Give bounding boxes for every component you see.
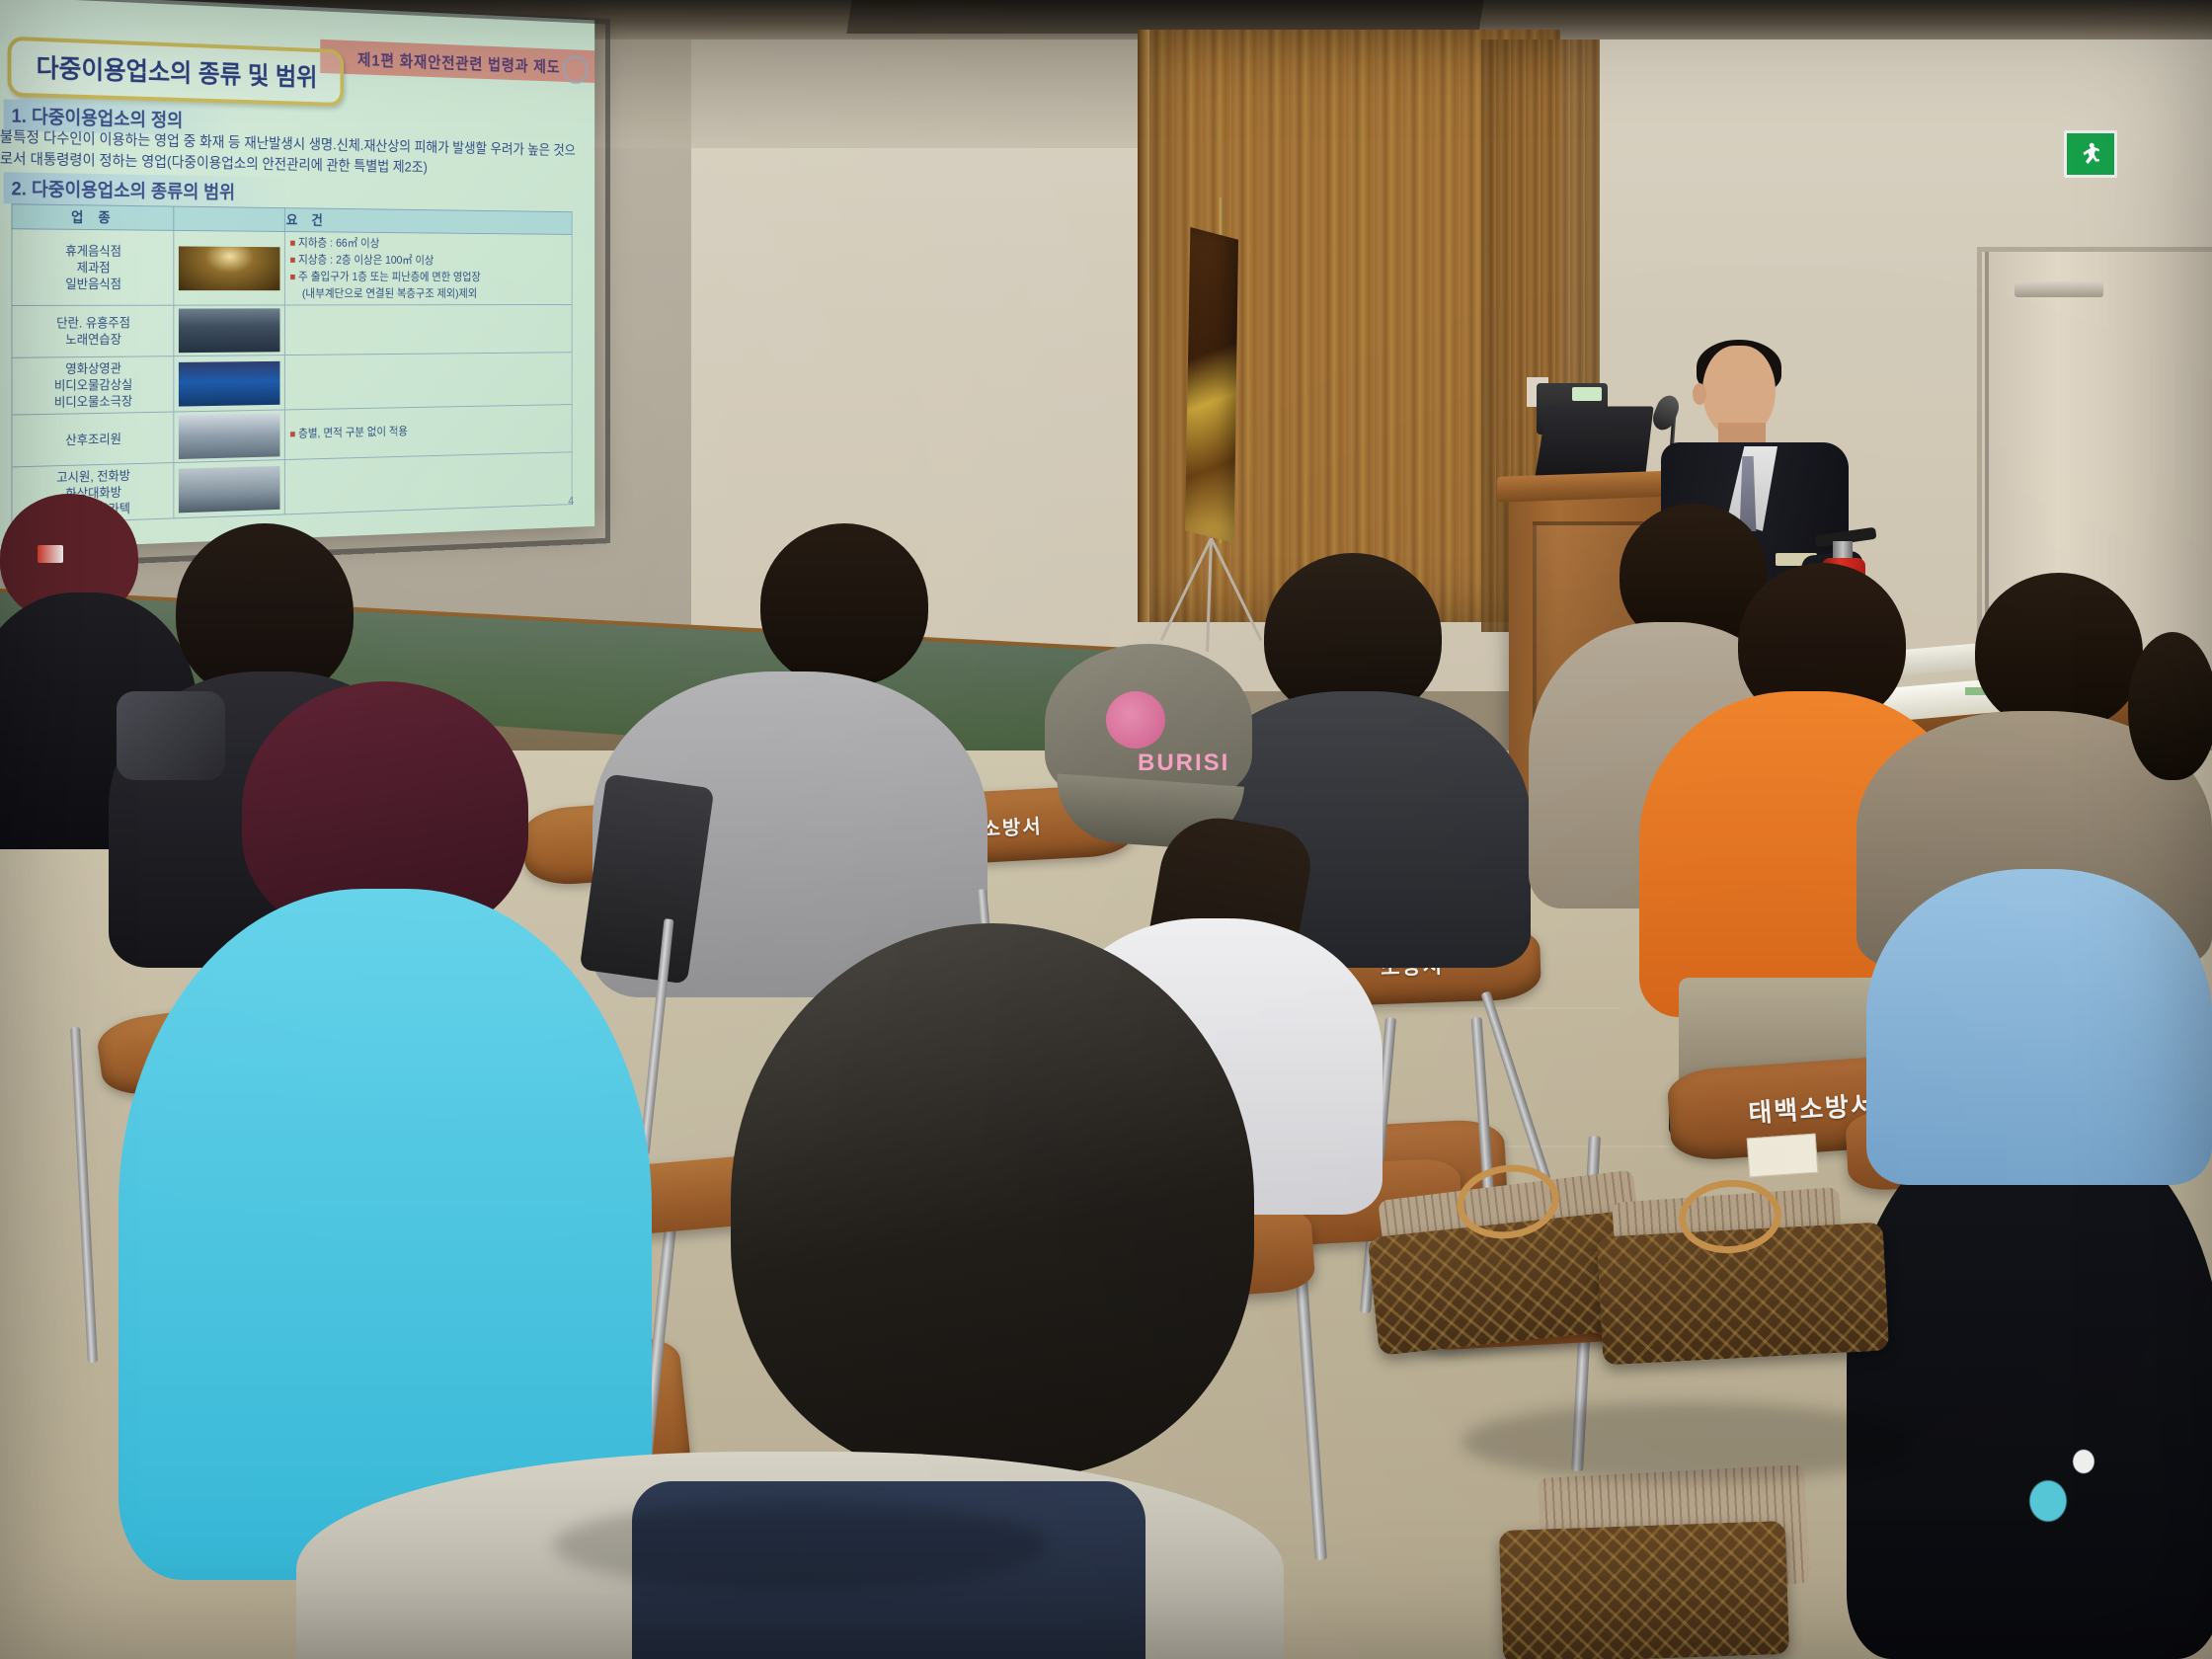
slide-table-header-image [174, 206, 285, 231]
slide-row-conditions-4: ■층별, 면적 구분 없이 적용 [285, 405, 573, 460]
slide-row-type-4: 산후조리원 [12, 412, 174, 467]
slide-row-type-1: 휴게음식점 제과점 일반음식점 [12, 229, 174, 306]
slide-banner-decor-icon [563, 54, 589, 84]
square-bullet-icon: ■ [289, 238, 295, 249]
slide-heading-2: 2. 다중이용업소의 종류의 범위 [4, 172, 288, 207]
slide-table-row: 휴게음식점 제과점 일반음식점 ■지하층 : 66㎡ 이상 ■지상층 : 2층 … [12, 229, 572, 306]
slide-row-type-2: 단란. 유흥주점 노래연습장 [12, 305, 174, 357]
audience-head [760, 523, 928, 686]
emergency-exit-sign [2064, 130, 2117, 178]
slide-row-type-3-text: 영화상영관 비디오물감상실 비디오물소극장 [17, 359, 168, 411]
cap-patch-icon [1106, 691, 1165, 749]
condition-line: ■지상층 : 2층 이상은 100㎡ 이상 [289, 252, 567, 270]
condition-line: (내부계단으로 연결된 복층구조 제외)제외 [289, 285, 567, 301]
tripod-leg [1160, 537, 1213, 641]
door-closer-arm [2014, 281, 2103, 297]
slide-row-conditions-1: ■지하층 : 66㎡ 이상 ■지상층 : 2층 이상은 100㎡ 이상 ■주 출… [285, 232, 573, 305]
square-bullet-icon: ■ [289, 272, 295, 282]
postnatal-care-thumb-icon [179, 413, 280, 459]
restaurant-interior-thumb-icon [179, 246, 280, 290]
running-person-icon [2076, 139, 2105, 169]
slide-table: 업 종 요 건 휴게음식점 제과점 일반음식점 [11, 203, 572, 524]
cinema-seats-thumb-icon [179, 360, 280, 406]
slide-row-type-3: 영화상영관 비디오물감상실 비디오물소극장 [12, 356, 174, 415]
slide-row-thumb-1 [174, 230, 285, 305]
slide-banner: 제1편 화재안전관련 법령과 제도 [320, 39, 594, 83]
tripod-leg [1206, 538, 1213, 652]
condition-line: ■지하층 : 66㎡ 이상 [289, 235, 567, 254]
lecture-hall-photo: 제1편 화재안전관련 법령과 제도 다중이용업소의 종류 및 범위 1. 다중이… [0, 0, 2212, 1659]
floral-pattern [1995, 1363, 2172, 1560]
condition-text: 층별, 면적 구분 없이 적용 [298, 425, 408, 440]
slide-row-thumb-3 [174, 355, 285, 412]
slide-row-conditions-2 [285, 304, 573, 355]
speaker-ear [1693, 383, 1706, 405]
audience-head [1975, 573, 2143, 731]
slide-row-type-2-text: 단란. 유흥주점 노래연습장 [17, 314, 168, 348]
slide-page-number: 4 [568, 494, 574, 508]
projection-screen: 제1편 화재안전관련 법령과 제도 다중이용업소의 종류 및 범위 1. 다중이… [0, 0, 594, 550]
audience-shoulder-logo [117, 691, 225, 780]
tripod-leg [1210, 537, 1262, 641]
floor-shadow [1461, 1402, 1916, 1481]
chair-label: 소방서 [982, 810, 1044, 841]
square-bullet-icon: ■ [289, 255, 295, 266]
slide-row-conditions-3 [285, 353, 573, 410]
wall-phone-label [1572, 387, 1602, 401]
condition-line: ■주 출입구가 1층 또는 피난층에 면한 영업장 [289, 269, 567, 286]
audience-head [2128, 632, 2212, 780]
slide-surface: 제1편 화재안전관련 법령과 제도 다중이용업소의 종류 및 범위 1. 다중이… [0, 0, 594, 550]
slide-title: 다중이용업소의 종류 및 범위 [8, 37, 344, 107]
slide-row-type-4-text: 산후조리원 [17, 430, 168, 449]
karaoke-room-thumb-icon [179, 308, 280, 353]
condition-text: 주 출입구가 1층 또는 피난층에 면한 영업장 [298, 270, 481, 283]
condition-text: 지상층 : 2층 이상은 100㎡ 이상 [298, 253, 434, 267]
ceiling-beam [846, 0, 1483, 34]
slide-row-thumb-2 [174, 305, 285, 356]
ceremonial-flag [1185, 227, 1238, 543]
slide-row-type-1-text: 휴게음식점 제과점 일반음식점 [17, 242, 168, 292]
slide-row-thumb-5 [174, 460, 285, 518]
audience-torso-lightblue [1866, 869, 2212, 1185]
slide-table-header-type: 업 종 [12, 204, 174, 231]
slide-table-header-condition: 요 건 [285, 208, 573, 235]
floor-shadow [553, 1501, 1047, 1590]
tag-line [1750, 1137, 1813, 1147]
slide-table-row: 단란. 유흥주점 노래연습장 [12, 304, 572, 357]
condition-text: 지하층 : 66㎡ 이상 [298, 236, 379, 250]
wood-panel-edge [1138, 30, 1149, 622]
condition-line: ■층별, 면적 구분 없이 적용 [289, 421, 567, 443]
chair-inspection-tag [1747, 1134, 1819, 1178]
handbag-bottom-right[interactable] [1499, 1521, 1790, 1659]
slide-row-conditions-5 [285, 452, 573, 514]
condition-text: (내부계단으로 연결된 복층구조 제외)제외 [302, 286, 477, 299]
cap-logo-text: BURISI [1138, 750, 1256, 776]
cap-logo-icon [38, 545, 63, 563]
audience-head-foreground [731, 923, 1254, 1476]
slide-row-thumb-4 [174, 410, 285, 463]
square-bullet-icon: ■ [289, 429, 295, 440]
goshiwon-thumb-icon [179, 465, 280, 513]
